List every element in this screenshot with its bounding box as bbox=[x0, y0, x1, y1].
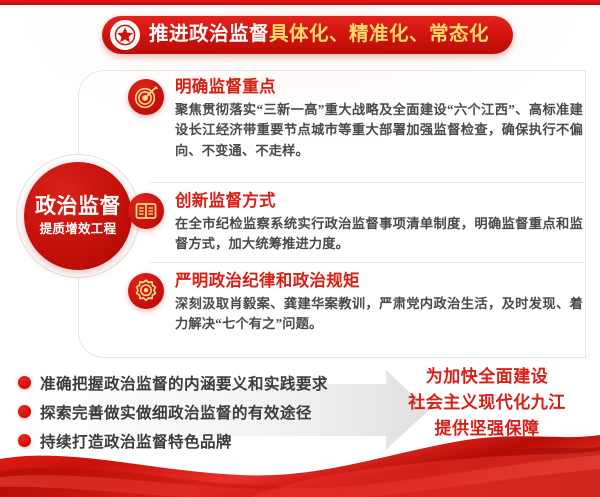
gear-cog-icon bbox=[128, 273, 164, 309]
section-text: 在全市纪检监察系统实行政治监督事项清单制度，明确监督重点和监督方式，加大统筹推进… bbox=[175, 214, 583, 255]
program-badge-subtitle: 提质增效工程 bbox=[40, 223, 117, 236]
page-title-white: 推进政治监督 bbox=[149, 23, 269, 45]
section-divider bbox=[150, 262, 583, 263]
section-heading: 明确监督重点 bbox=[175, 78, 583, 97]
slogan-line: 为加快全面建设 bbox=[392, 364, 582, 390]
page-title: 推进政治监督具体化、精准化、常态化 bbox=[149, 25, 489, 45]
section-heading: 严明政治纪律和政治规矩 bbox=[175, 272, 583, 291]
section-innovate-methods: 创新监督方式 在全市纪检监察系统实行政治监督事项清单制度，明确监督重点和监督方式… bbox=[128, 192, 583, 255]
poster-title-banner: 推进政治监督具体化、精准化、常态化 bbox=[102, 16, 513, 54]
page-title-gold: 具体化、精准化、常态化 bbox=[269, 23, 489, 45]
slogan-line: 社会主义现代化九江 bbox=[392, 390, 582, 416]
red-silk-ribbon-decoration bbox=[0, 425, 600, 497]
section-focus-priorities: 明确监督重点 聚焦贯彻落实“三新一高”重大战略及全面建设“六个江西”、高标准建设… bbox=[128, 78, 583, 161]
list-item-label: 准确把握政治监督的内涵要义和实践要求 bbox=[40, 372, 328, 394]
target-bullseye-icon bbox=[128, 79, 164, 115]
section-political-discipline: 严明政治纪律和政治规矩 深刻汲取肖毅案、龚建华案教训，严肃党内政治生活，及时发现… bbox=[128, 272, 583, 335]
section-text: 深刻汲取肖毅案、龚建华案教训，严肃党内政治生活，及时发现、着力解决“七个有之”问… bbox=[175, 294, 583, 335]
infographic-poster: 推进政治监督具体化、精准化、常态化 政治监督 提质增效工程 明确监督重点 聚焦贯… bbox=[0, 0, 600, 497]
five-pointed-star-icon bbox=[110, 20, 140, 50]
top-red-rule bbox=[0, 0, 600, 5]
section-text: 聚焦贯彻落实“三新一高”重大战略及全面建设“六个江西”、高标准建设长江经济带重要… bbox=[175, 100, 583, 161]
program-badge: 政治监督 提质增效工程 bbox=[24, 162, 132, 270]
open-book-icon bbox=[128, 193, 164, 229]
bullet-dot-icon bbox=[18, 376, 31, 389]
section-divider bbox=[150, 182, 583, 183]
list-item-label: 探索完善做实做细政治监督的有效途径 bbox=[40, 401, 312, 423]
list-item: 准确把握政治监督的内涵要义和实践要求 bbox=[18, 368, 418, 397]
section-heading: 创新监督方式 bbox=[175, 192, 583, 211]
bullet-dot-icon bbox=[18, 405, 31, 418]
program-badge-title: 政治监督 bbox=[35, 196, 121, 217]
list-item: 探索完善做实做细政治监督的有效途径 bbox=[18, 397, 418, 426]
